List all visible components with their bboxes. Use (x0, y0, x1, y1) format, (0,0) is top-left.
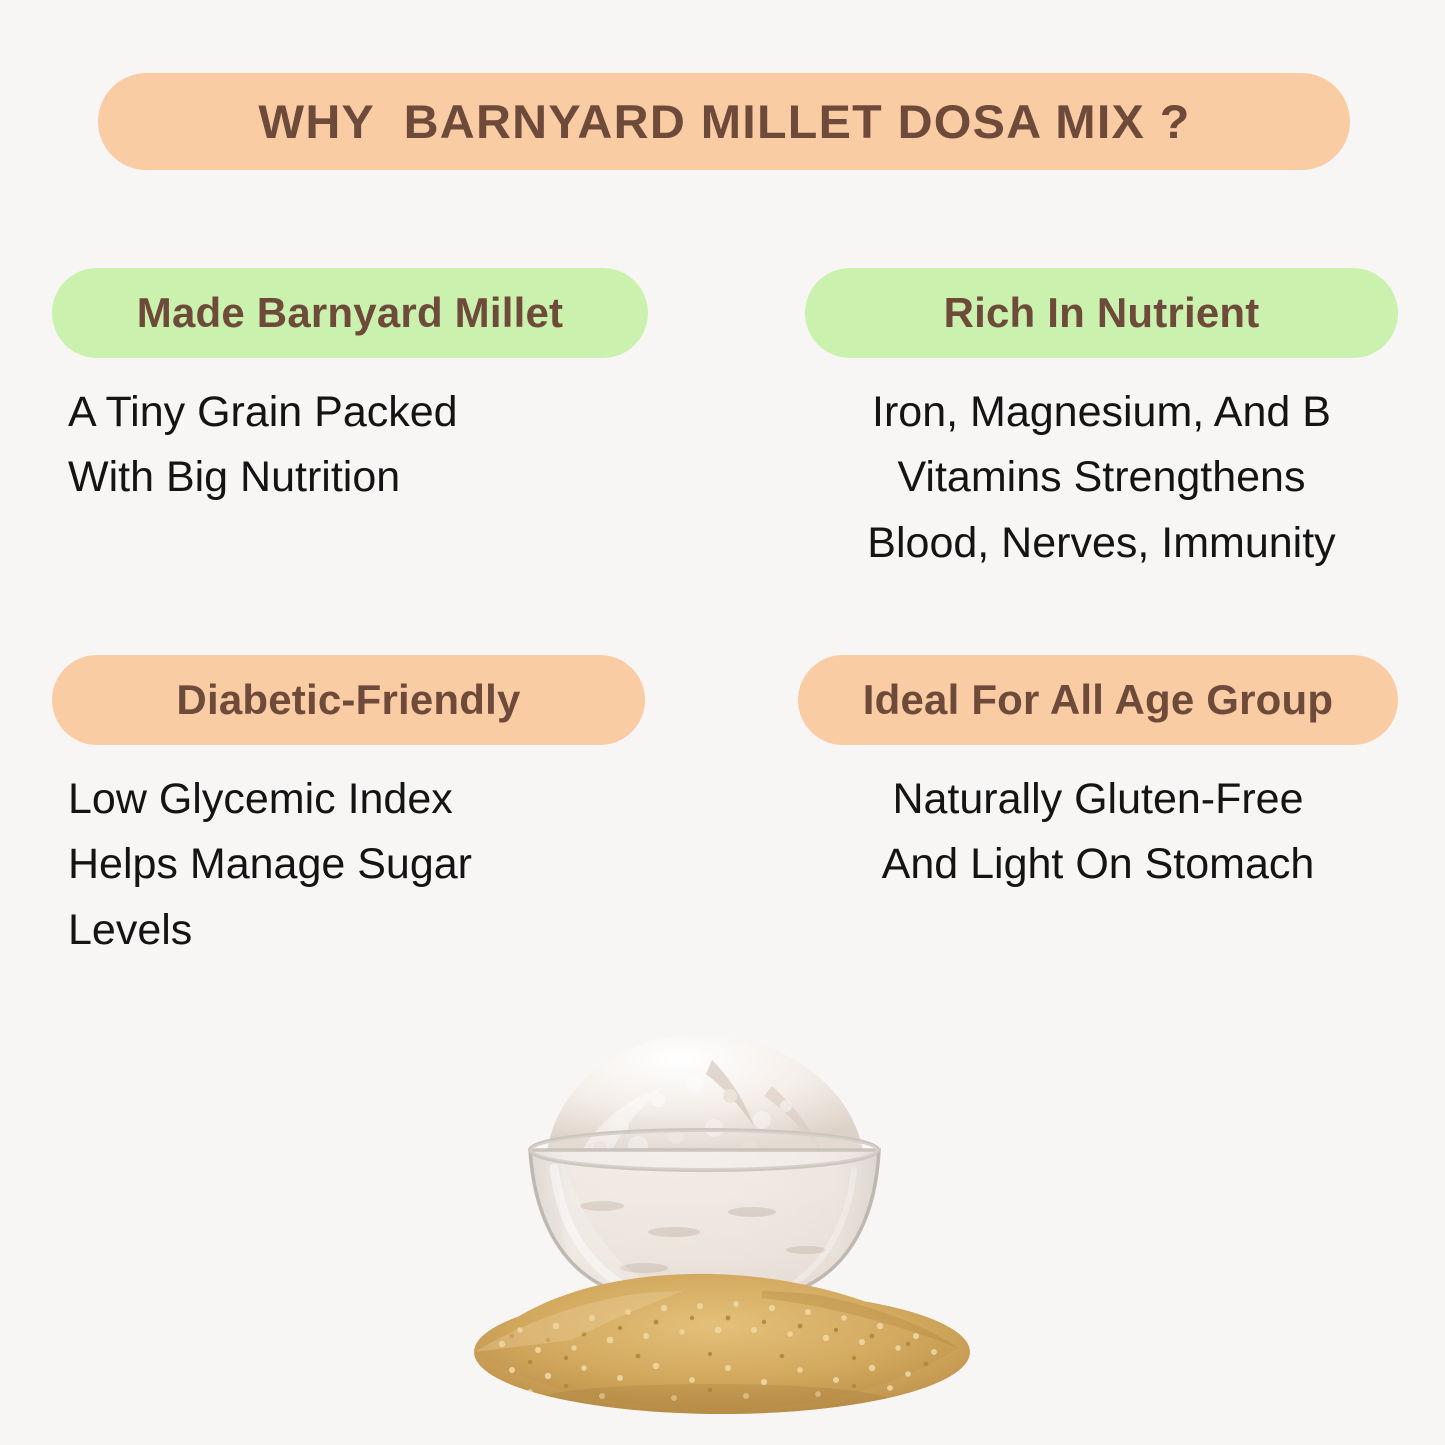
feature-label: Diabetic-Friendly (176, 676, 520, 724)
feature-label: Made Barnyard Millet (137, 289, 563, 337)
feature-block-made-barnyard-millet: Made Barnyard Millet A Tiny Grain Packed… (52, 268, 648, 511)
feature-description: Low Glycemic Index Helps Manage Sugar Le… (52, 767, 645, 963)
infographic-page: WHY BARNYARD MILLET DOSA MIX ? Made Barn… (0, 0, 1445, 1445)
millet-grain-pile (474, 1274, 970, 1420)
feature-description: A Tiny Grain Packed With Big Nutrition (52, 380, 648, 511)
feature-block-rich-in-nutrient: Rich In Nutrient Iron, Magnesium, And B … (805, 268, 1398, 576)
feature-description: Iron, Magnesium, And B Vitamins Strength… (805, 380, 1398, 576)
feature-label-pill: Rich In Nutrient (805, 268, 1398, 358)
feature-label: Rich In Nutrient (944, 289, 1260, 337)
feature-description: Naturally Gluten-Free And Light On Stoma… (798, 767, 1398, 898)
feature-label-pill: Ideal For All Age Group (798, 655, 1398, 745)
feature-block-ideal-for-all-age-group: Ideal For All Age Group Naturally Gluten… (798, 655, 1398, 898)
page-title: WHY BARNYARD MILLET DOSA MIX ? (258, 94, 1190, 149)
feature-label: Ideal For All Age Group (863, 676, 1334, 724)
feature-label-pill: Made Barnyard Millet (52, 268, 648, 358)
page-title-pill: WHY BARNYARD MILLET DOSA MIX ? (98, 73, 1350, 170)
feature-label-pill: Diabetic-Friendly (52, 655, 645, 745)
feature-block-diabetic-friendly: Diabetic-Friendly Low Glycemic Index Hel… (52, 655, 645, 963)
product-image-millet-flour-bowl (462, 1000, 982, 1430)
